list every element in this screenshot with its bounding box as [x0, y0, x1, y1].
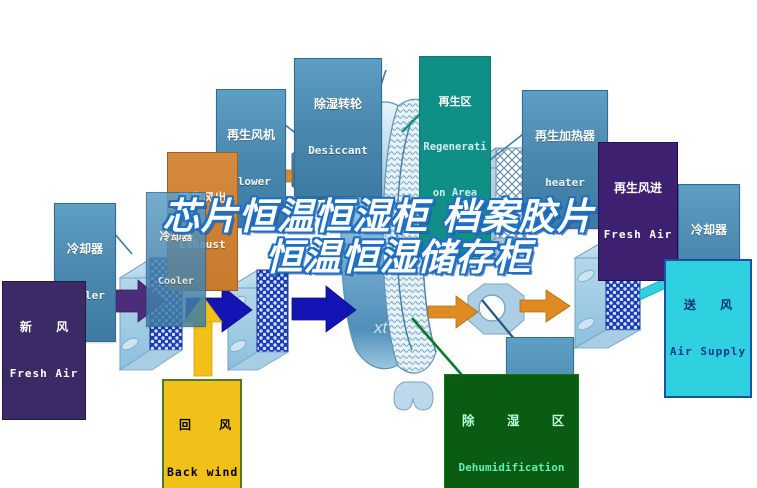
- label-regeneration-area-en1: Regenerati: [423, 142, 487, 153]
- callout-tail: [434, 256, 452, 268]
- dehumidifier-rotor-diagram: xt 除湿转轮 Desiccant 再生风机 Blower 再生风出 Exhau…: [0, 0, 757, 488]
- label-air-supply-en: Air Supply: [669, 346, 747, 358]
- label-air-supply: 送 风 Air Supply: [664, 259, 752, 398]
- label-back-wind-cn: 回 风: [167, 419, 237, 432]
- label-fresh-air: 新 风 Fresh Air: [2, 281, 86, 420]
- label-cooler-left-upper-cn: 冷却器: [150, 231, 202, 243]
- label-regen-heater-cn: 再生加热器: [526, 130, 604, 143]
- label-desiccant-cn: 除湿转轮: [299, 98, 377, 111]
- label-back-wind-en: Back wind: [167, 466, 237, 478]
- label-regeneration-area-en2: on Area: [423, 188, 487, 199]
- label-dehumidification-district: 除 湿 区 Dehumidification District: [444, 374, 579, 488]
- label-desiccant-en: Desiccant: [299, 145, 377, 157]
- label-cooler-left-upper: 冷却器 Cooler: [146, 192, 206, 327]
- label-regen-fresh-air-en: Fresh Air: [602, 229, 674, 241]
- dehumidification-blower: [468, 284, 524, 334]
- label-regen-fresh-air-cn: 再生风进: [602, 182, 674, 195]
- label-regeneration-area-cn: 再生区: [423, 96, 487, 108]
- faint-watermark: xt: [374, 318, 387, 338]
- label-fresh-air-cn: 新 风: [6, 321, 82, 334]
- label-regen-heater-en: heater: [526, 177, 604, 189]
- label-air-supply-cn: 送 风: [669, 299, 747, 312]
- label-cooler-left-lower-cn: 冷却器: [58, 243, 112, 256]
- label-regen-heater: 再生加热器 heater: [522, 90, 608, 229]
- label-dehumidification-district-en1: Dehumidification: [448, 462, 575, 474]
- label-regeneration-area: 再生区 Regenerati on Area: [419, 56, 491, 257]
- label-back-wind: 回 风 Back wind: [162, 379, 242, 488]
- label-cooler-right-cn: 冷却器: [682, 224, 736, 237]
- label-regen-blower-cn: 再生风机: [221, 129, 281, 142]
- label-desiccant: 除湿转轮 Desiccant: [294, 58, 382, 197]
- arrow-dehumid-2: [520, 290, 570, 322]
- label-fresh-air-en: Fresh Air: [6, 368, 82, 380]
- label-dehumidification-district-cn: 除 湿 区: [448, 414, 575, 428]
- label-cooler-left-upper-en: Cooler: [150, 277, 202, 288]
